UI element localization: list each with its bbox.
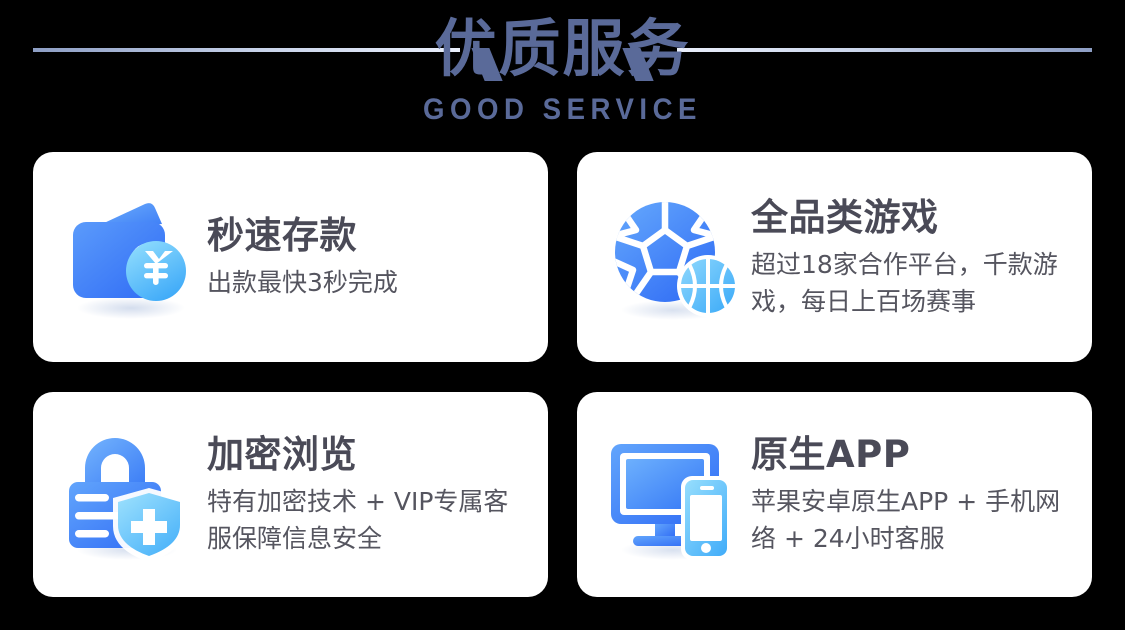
card-description: 苹果安卓原生APP + 手机网络 + 24小时客服 <box>751 483 1074 557</box>
feature-card-text: 加密浏览 特有加密技术 + VIP专属客服保障信息安全 <box>201 432 530 557</box>
card-title: 全品类游戏 <box>751 195 1074 241</box>
card-title: 秒速存款 <box>207 213 398 259</box>
card-description: 超过18家合作平台，千款游戏，每日上百场赛事 <box>751 246 1074 320</box>
feature-card-text: 原生APP 苹果安卓原生APP + 手机网络 + 24小时客服 <box>745 432 1074 557</box>
page-header: 优质服务 GOOD SERVICE <box>0 0 1125 148</box>
feature-card-deposit[interactable]: 秒速存款 出款最快3秒完成 <box>33 152 548 362</box>
feature-card-text: 全品类游戏 超过18家合作平台，千款游戏，每日上百场赛事 <box>745 195 1074 320</box>
card-description: 出款最快3秒完成 <box>207 264 398 301</box>
header-titles: 优质服务 GOOD SERVICE <box>0 8 1125 128</box>
soccer-basketball-icon <box>603 186 745 328</box>
page-subtitle: GOOD SERVICE <box>45 92 1080 128</box>
feature-card-games[interactable]: 全品类游戏 超过18家合作平台，千款游戏，每日上百场赛事 <box>577 152 1092 362</box>
page-title: 优质服务 <box>0 8 1125 90</box>
feature-card-grid: 秒速存款 出款最快3秒完成 <box>33 152 1092 597</box>
feature-card-native-app[interactable]: 原生APP 苹果安卓原生APP + 手机网络 + 24小时客服 <box>577 392 1092 597</box>
card-description: 特有加密技术 + VIP专属客服保障信息安全 <box>207 483 530 557</box>
feature-card-text: 秒速存款 出款最快3秒完成 <box>201 213 398 301</box>
card-title: 加密浏览 <box>207 432 530 478</box>
wallet-yen-icon <box>59 186 201 328</box>
card-title: 原生APP <box>751 432 1074 478</box>
monitor-phone-icon <box>603 424 745 566</box>
feature-card-encryption[interactable]: 加密浏览 特有加密技术 + VIP专属客服保障信息安全 <box>33 392 548 597</box>
lock-shield-icon <box>59 424 201 566</box>
